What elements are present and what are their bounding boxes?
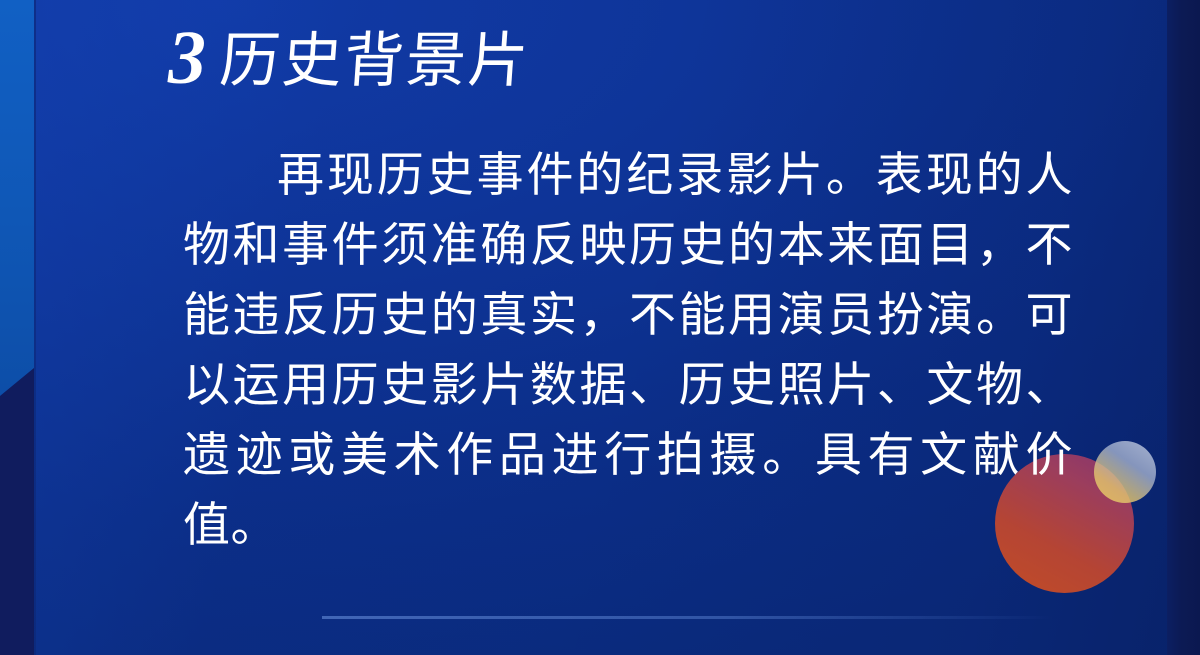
bottom-divider-rule <box>322 616 1053 619</box>
left-edge-decoration <box>0 0 34 655</box>
heading-section-number: 3 <box>168 20 206 96</box>
right-edge-decoration <box>1167 0 1200 655</box>
left-edge-seam <box>34 0 36 655</box>
left-edge-upper-shape <box>0 0 34 396</box>
slide-heading: 3 历史背景片 <box>168 18 530 94</box>
slide-canvas: 3 历史背景片 再现历史事件的纪录影片。表现的人物和事件须准确反映历史的本来面目… <box>0 0 1200 655</box>
decorative-circle-small <box>1094 441 1156 503</box>
heading-title: 历史背景片 <box>218 31 532 91</box>
left-edge-lower-shape <box>0 360 34 655</box>
slide-body-text: 再现历史事件的纪录影片。表现的人物和事件须准确反映历史的本来面目，不能违反历史的… <box>183 140 1073 560</box>
